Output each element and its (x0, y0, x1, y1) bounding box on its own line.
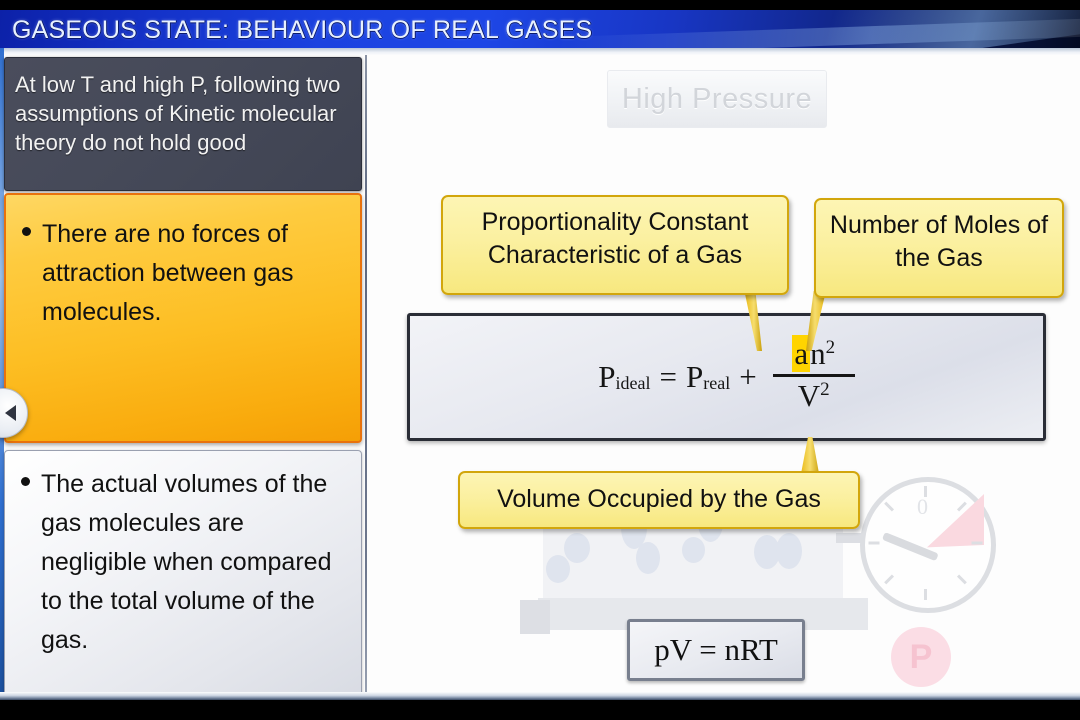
slide-root: GASEOUS STATE: BEHAVIOUR OF REAL GASES A… (0, 0, 1080, 720)
ideal-gas-equation-text: pV = nRT (654, 632, 778, 668)
ideal-gas-equation-box: pV = nRT (627, 619, 805, 681)
formula-denominator: V2 (788, 378, 840, 414)
bullet-dot-icon (21, 477, 30, 486)
column-divider (365, 55, 367, 700)
formula-expression: Pideal = Preal + an2 V2 (598, 338, 854, 416)
bullet-row: The actual volumes of the gas molecules … (5, 451, 361, 660)
callout-volume-occupied: Volume Occupied by the Gas (458, 471, 860, 529)
high-pressure-heading: High Pressure (607, 70, 827, 128)
callout-proportionality-constant: Proportionality Constant Characteristic … (441, 195, 789, 295)
formula-lhs-base: P (598, 359, 615, 395)
page-title: GASEOUS STATE: BEHAVIOUR OF REAL GASES (12, 16, 592, 45)
assumption-2-text: The actual volumes of the gas molecules … (41, 465, 347, 660)
formula-fraction: an2 V2 (773, 336, 855, 414)
formula-lhs-subscript: ideal (616, 373, 651, 394)
formula-volume-v: V (798, 378, 820, 413)
bullet-dot-icon (22, 227, 31, 236)
letterbox-top (0, 0, 1080, 10)
formula-denominator-exponent: 2 (820, 379, 830, 400)
formula-content: Pideal = Preal + an2 V2 (410, 316, 1043, 438)
assumption-2-panel: The actual volumes of the gas molecules … (4, 450, 362, 700)
formula-numerator-exponent: 2 (826, 337, 836, 358)
callout-text: Proportionality Constant Characteristic … (443, 197, 787, 281)
assumption-1-text: There are no forces of attraction betwee… (42, 215, 346, 332)
formula-rhs-subscript: real (703, 373, 730, 394)
title-bar: GASEOUS STATE: BEHAVIOUR OF REAL GASES (0, 10, 1080, 48)
formula-fraction-bar (773, 374, 855, 377)
formula-equals: = (660, 359, 677, 395)
callout-text: Number of Moles of the Gas (816, 200, 1062, 284)
formula-plus: + (739, 359, 756, 395)
letterbox-bottom (0, 700, 1080, 720)
assumption-1-panel: There are no forces of attraction betwee… (4, 193, 362, 443)
callout-number-of-moles: Number of Moles of the Gas (814, 198, 1064, 298)
board-bottom-edge (0, 692, 1080, 700)
formula-rhs-base: P (686, 359, 703, 395)
van-der-waals-formula-box: Pideal = Preal + an2 V2 (407, 313, 1046, 441)
board-top-edge (0, 48, 1080, 55)
intro-text: At low T and high P, following two assum… (15, 70, 351, 157)
bullet-row: There are no forces of attraction betwee… (6, 195, 360, 332)
intro-panel: At low T and high P, following two assum… (4, 57, 362, 191)
callout-text: Volume Occupied by the Gas (460, 473, 858, 526)
